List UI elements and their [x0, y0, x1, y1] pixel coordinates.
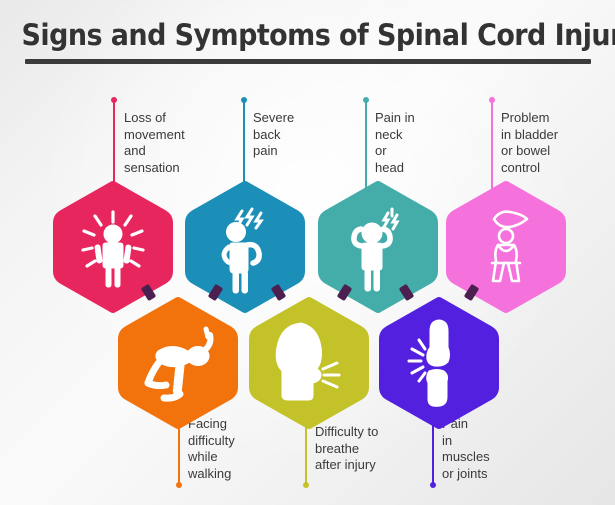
hexagon-shape	[120, 299, 236, 427]
page-title: Signs and Symptoms of Spinal Cord Injury	[22, 18, 594, 52]
label-severe-back-pain: Severe back pain	[253, 110, 345, 160]
stem-dot-icon	[489, 97, 495, 103]
stem-problem-in-bladder-or-bowel-control	[491, 100, 493, 190]
stem-dot-icon	[303, 482, 309, 488]
label-problem-in-bladder-or-bowel-control: Problem in bladder or bowel control	[501, 110, 601, 176]
hexagon-facing-difficulty-while-walking[interactable]	[120, 299, 236, 427]
stem-severe-back-pain	[243, 100, 245, 190]
label-loss-of-movement-and-sensation: Loss of movement and sensation	[124, 110, 216, 176]
hexagon-difficulty-to-breathe-after-injury[interactable]	[251, 299, 367, 427]
label-pain-in-neck-or-head: Pain in neck or head	[375, 110, 467, 176]
hexagon-pain-in-neck-or-head[interactable]	[320, 183, 436, 311]
stem-dot-icon	[111, 97, 117, 103]
hexagon-shape	[320, 183, 436, 311]
infographic-canvas: Signs and Symptoms of Spinal Cord Injury…	[0, 0, 615, 505]
stem-dot-icon	[176, 482, 182, 488]
stem-loss-of-movement-and-sensation	[113, 100, 115, 190]
hexagon-pain-in-muscles-or-joints[interactable]	[381, 299, 497, 427]
label-difficulty-to-breathe-after-injury: Difficulty to breathe after injury	[315, 424, 425, 474]
hexagon-shape	[187, 183, 303, 311]
hexagon-severe-back-pain[interactable]	[187, 183, 303, 311]
hexagon-shape	[381, 299, 497, 427]
hexagon-shape	[251, 299, 367, 427]
stem-pain-in-neck-or-head	[365, 100, 367, 190]
stem-dot-icon	[363, 97, 369, 103]
stem-dot-icon	[430, 482, 436, 488]
title-underline-rule	[25, 59, 591, 64]
stem-dot-icon	[241, 97, 247, 103]
title-block: Signs and Symptoms of Spinal Cord Injury	[0, 18, 615, 64]
